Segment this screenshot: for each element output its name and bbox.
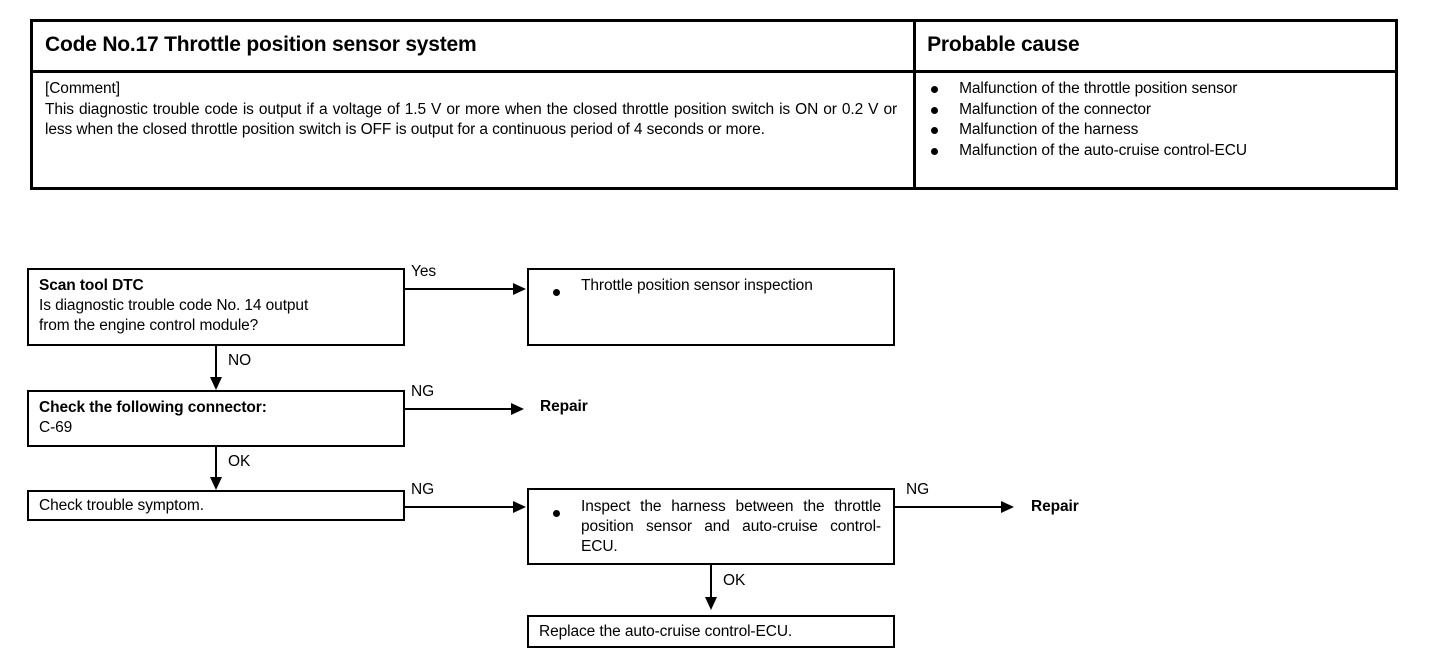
connector-no-arrow	[210, 377, 222, 390]
connector-ng3-arrow	[1001, 501, 1014, 513]
bullet-icon	[553, 289, 560, 296]
connector-check-title: Check the following connector:	[39, 398, 403, 418]
scan-tool-line3: from the engine control module?	[39, 316, 403, 336]
cause-text: Malfunction of the auto-cruise control-E…	[959, 142, 1247, 159]
table-column-divider	[913, 22, 916, 187]
trouble-symptom-text: Check trouble symptom.	[39, 496, 403, 516]
flow-box-connector-check: Check the following connector: C-69	[27, 390, 405, 447]
comment-body: This diagnostic trouble code is output i…	[45, 100, 897, 141]
flow-box-inspection: Throttle position sensor inspection	[527, 268, 895, 346]
edge-label-ng1: NG	[411, 384, 434, 400]
list-item: Malfunction of the auto-cruise control-E…	[929, 141, 1395, 162]
connector-ok1-arrow	[210, 477, 222, 490]
probable-cause-title: Probable cause	[911, 22, 1395, 57]
connector-ok1-line	[215, 447, 217, 479]
table-body-cell-causes: Malfunction of the throttle position sen…	[911, 70, 1395, 187]
terminal-repair-2: Repair	[1031, 499, 1079, 515]
connector-ng2-arrow	[513, 501, 526, 513]
list-item: Malfunction of the connector	[929, 100, 1395, 121]
bullet-icon	[553, 510, 560, 517]
cause-text: Malfunction of the connector	[959, 101, 1151, 118]
bullet-icon	[931, 86, 938, 93]
bullet-icon	[931, 107, 938, 114]
table-header-row: Code No.17 Throttle position sensor syst…	[33, 22, 1395, 70]
comment-label: [Comment]	[45, 79, 897, 100]
connector-yes-line	[405, 288, 515, 290]
edge-label-ng2: NG	[411, 482, 434, 498]
flow-box-harness-inspect: Inspect the harness between the throttle…	[527, 488, 895, 565]
connector-ng2-line	[405, 506, 515, 508]
cause-text: Malfunction of the throttle position sen…	[959, 80, 1237, 97]
scan-tool-title: Scan tool DTC	[39, 276, 403, 296]
document-page: Code No.17 Throttle position sensor syst…	[0, 0, 1440, 668]
code-title: Code No.17 Throttle position sensor syst…	[33, 22, 911, 57]
list-item: Malfunction of the harness	[929, 120, 1395, 141]
flow-box-trouble-symptom: Check trouble symptom.	[27, 490, 405, 521]
connector-check-value: C-69	[39, 418, 403, 438]
terminal-repair-1: Repair	[540, 399, 588, 415]
edge-label-ng3: NG	[906, 482, 929, 498]
comment-block: [Comment] This diagnostic trouble code i…	[33, 70, 911, 141]
edge-label-ok1: OK	[228, 454, 250, 470]
edge-label-ok2: OK	[723, 573, 745, 589]
table-body-row: [Comment] This diagnostic trouble code i…	[33, 70, 1395, 187]
connector-ng1-arrow	[511, 403, 524, 415]
connector-yes-arrow	[513, 283, 526, 295]
table-header-cell-code: Code No.17 Throttle position sensor syst…	[33, 22, 911, 70]
list-item: Malfunction of the throttle position sen…	[929, 79, 1395, 100]
flow-box-scan-tool: Scan tool DTC Is diagnostic trouble code…	[27, 268, 405, 346]
inspection-row: Throttle position sensor inspection	[539, 276, 893, 296]
bullet-icon	[931, 127, 938, 134]
inspection-text: Throttle position sensor inspection	[581, 277, 813, 294]
connector-ng3-line	[895, 506, 1003, 508]
probable-cause-list: Malfunction of the throttle position sen…	[911, 70, 1395, 161]
table-body-cell-comment: [Comment] This diagnostic trouble code i…	[33, 70, 911, 187]
edge-label-no: NO	[228, 353, 251, 369]
connector-ok2-line	[710, 565, 712, 599]
table-header-cell-cause: Probable cause	[911, 22, 1395, 70]
cause-text: Malfunction of the harness	[959, 121, 1138, 138]
harness-row: Inspect the harness between the throttle…	[539, 497, 893, 557]
harness-text: Inspect the harness between the throttle…	[581, 497, 881, 557]
scan-tool-line2: Is diagnostic trouble code No. 14 output	[39, 296, 403, 316]
edge-label-yes: Yes	[411, 264, 436, 280]
dtc-table: Code No.17 Throttle position sensor syst…	[30, 19, 1398, 190]
replace-ecu-text: Replace the auto-cruise control-ECU.	[539, 622, 893, 642]
connector-ng1-line	[405, 408, 513, 410]
table-header-divider	[33, 70, 1395, 73]
flow-box-replace-ecu: Replace the auto-cruise control-ECU.	[527, 615, 895, 648]
connector-no-line	[215, 346, 217, 380]
connector-ok2-arrow	[705, 597, 717, 610]
bullet-icon	[931, 148, 938, 155]
